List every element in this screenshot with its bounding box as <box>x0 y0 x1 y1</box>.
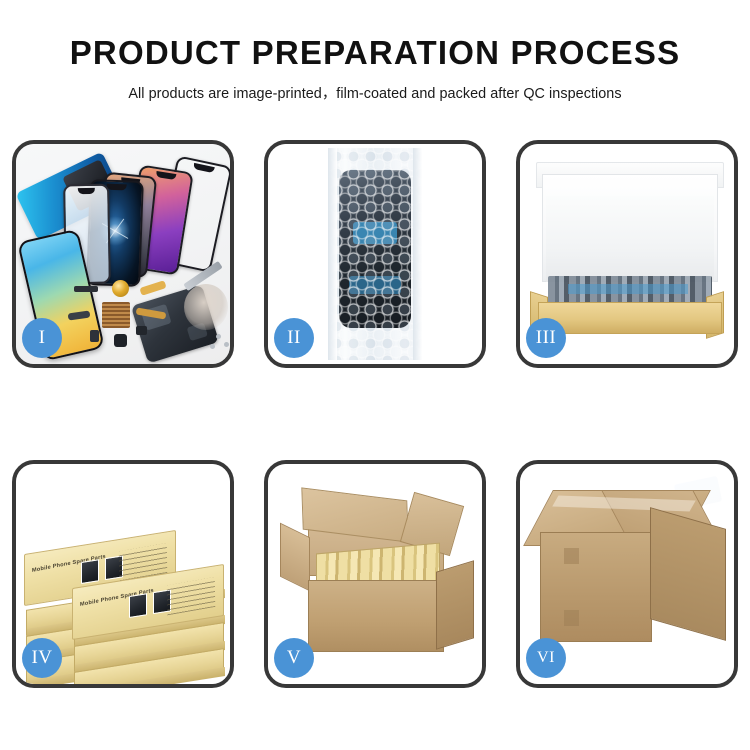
carton-side-wall <box>436 560 474 650</box>
white-foam-liner <box>546 196 714 282</box>
coil-part <box>112 280 129 297</box>
step-panel-6[interactable]: VI <box>516 460 738 688</box>
sealed-carton-side <box>650 507 726 641</box>
page-title: PRODUCT PREPARATION PROCESS <box>0 36 750 71</box>
carton-tab-lower <box>564 610 579 626</box>
product-preparation-infographic: PRODUCT PREPARATION PROCESS All products… <box>0 0 750 750</box>
carton-front-wall <box>308 580 444 652</box>
chip-part-a <box>136 326 147 335</box>
wrap-edge-right <box>413 148 422 360</box>
copper-grid-part <box>102 302 130 328</box>
screw-part-3 <box>210 344 215 349</box>
process-steps-grid: I II <box>12 140 738 688</box>
step-panel-3[interactable]: III <box>516 140 738 368</box>
hand-blur <box>184 284 228 330</box>
step-badge-1: I <box>22 318 62 358</box>
step-badge-4: IV <box>22 638 62 678</box>
step-panel-5[interactable]: V <box>264 460 486 688</box>
bar-part <box>74 286 98 292</box>
camera-module-part <box>114 334 127 347</box>
screw-part-2 <box>224 342 229 347</box>
step-badge-5: V <box>274 638 314 678</box>
step-panel-4[interactable]: Mobile Phone Spare Parts Mobile Phone Sp… <box>12 460 234 688</box>
step-badge-6: VI <box>526 638 566 678</box>
header: PRODUCT PREPARATION PROCESS All products… <box>0 0 750 103</box>
step-panel-2[interactable]: II <box>264 140 486 368</box>
sealed-carton-front <box>540 532 652 642</box>
step-badge-2: II <box>274 318 314 358</box>
step-badge-3: III <box>526 318 566 358</box>
box-print-text-lines <box>167 577 216 615</box>
carton-tab-upper <box>564 548 579 564</box>
bubble-pattern-offset <box>328 148 422 360</box>
wrap-edge-left <box>328 148 337 360</box>
screw-part-1 <box>216 334 221 339</box>
page-subtitle: All products are image-printed，film-coat… <box>0 82 750 103</box>
mailer-box-front <box>538 302 722 334</box>
step-panel-1[interactable]: I <box>12 140 234 368</box>
chip-part-b <box>90 330 99 342</box>
box-print-screen-a <box>129 593 147 618</box>
box-print-screen-a <box>81 559 99 584</box>
